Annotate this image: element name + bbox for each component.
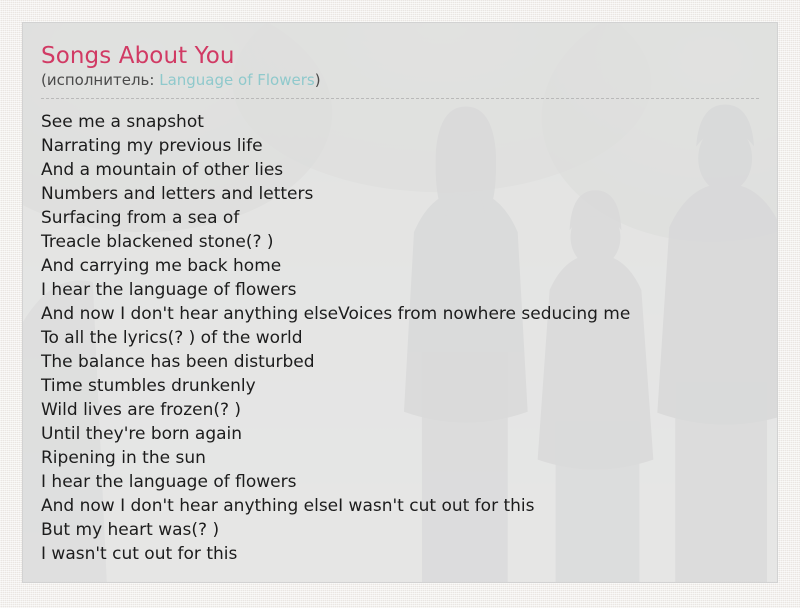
lyrics-panel: Songs About You (исполнитель: Language o… — [22, 22, 778, 583]
lyric-line: And carrying me back home — [41, 254, 759, 278]
lyric-line: The balance has been disturbed — [41, 350, 759, 374]
lyric-line: Narrating my previous life — [41, 134, 759, 158]
lyric-line: Time stumbles drunkenly — [41, 374, 759, 398]
lyric-line: To all the lyrics(? ) of the world — [41, 326, 759, 350]
lyric-line: Until they're born again — [41, 422, 759, 446]
performer-label: (исполнитель: — [41, 71, 154, 89]
lyric-line: Wild lives are frozen(? ) — [41, 398, 759, 422]
lyric-line: And a mountain of other lies — [41, 158, 759, 182]
lyric-line: See me a snapshot — [41, 110, 759, 134]
page-title: Songs About You — [41, 43, 759, 69]
performer-line: (исполнитель: Language of Flowers) — [41, 71, 759, 91]
lyric-line: I hear the language of flowers — [41, 470, 759, 494]
lyrics-text: See me a snapshot Narrating my previous … — [41, 110, 759, 566]
artist-link[interactable]: Language of Flowers — [159, 71, 314, 89]
lyric-line: And now I don't hear anything elseI wasn… — [41, 494, 759, 518]
lyric-line: I wasn't cut out for this — [41, 542, 759, 566]
lyric-line: Surfacing from a sea of — [41, 206, 759, 230]
lyric-line: I hear the language of flowers — [41, 278, 759, 302]
lyric-line: Ripening in the sun — [41, 446, 759, 470]
song-header: Songs About You (исполнитель: Language o… — [41, 43, 759, 99]
performer-paren-close: ) — [315, 71, 321, 89]
lyric-line: And now I don't hear anything elseVoices… — [41, 302, 759, 326]
lyric-line: Treacle blackened stone(? ) — [41, 230, 759, 254]
lyric-line: Numbers and letters and letters — [41, 182, 759, 206]
lyric-line: But my heart was(? ) — [41, 518, 759, 542]
